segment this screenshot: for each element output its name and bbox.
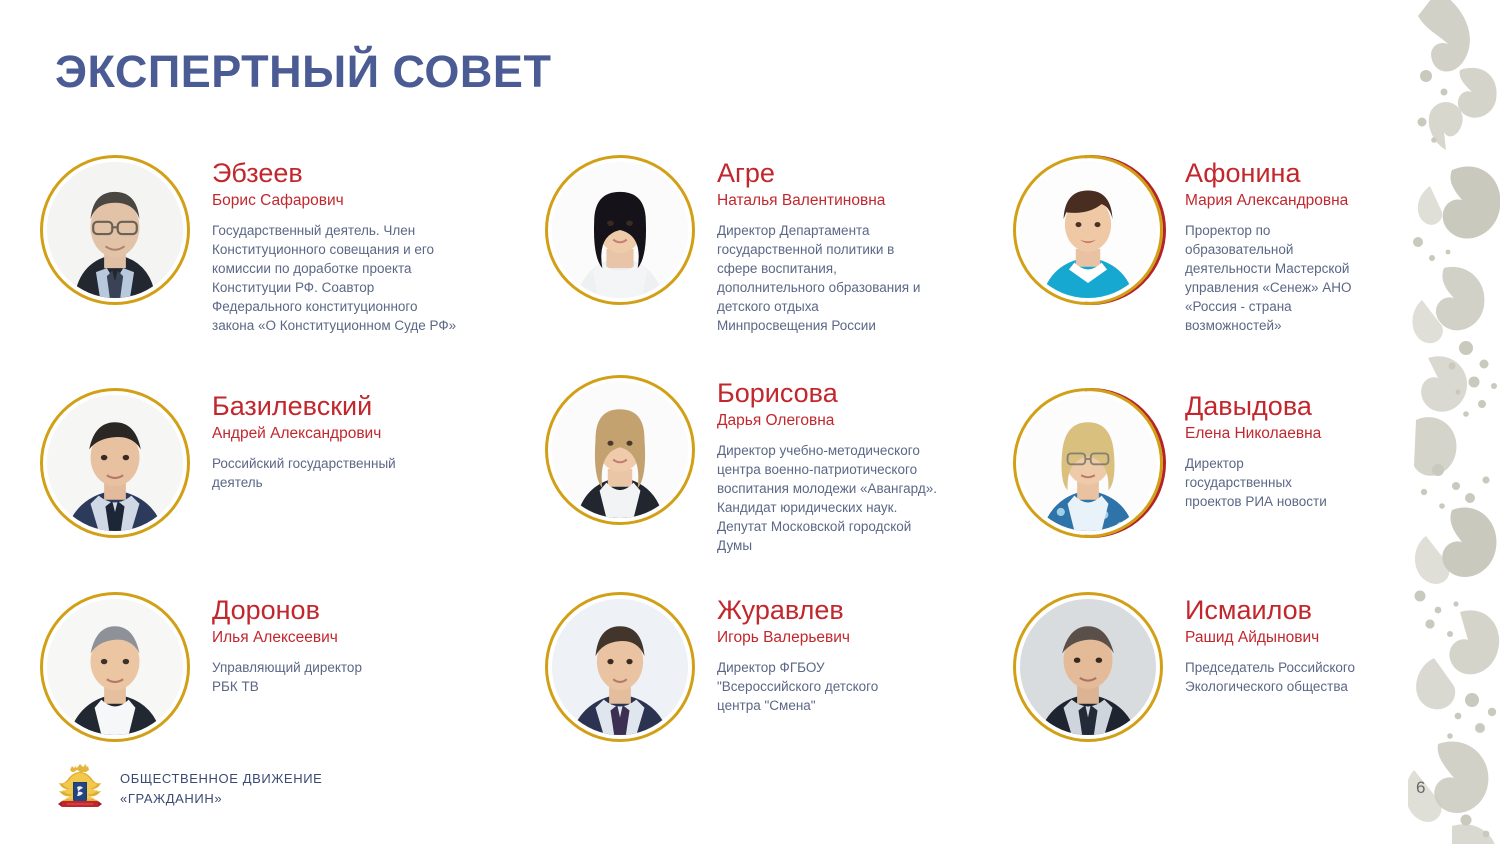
expert-patronymic: Рашид Айдынович [1185, 628, 1355, 649]
expert-info: Доронов Илья Алексеевич Управляющий дире… [190, 592, 362, 696]
expert-info: Исмаилов Рашид Айдынович Председатель Ро… [1163, 592, 1355, 696]
expert-role: Председатель Российского Экологического … [1185, 658, 1355, 696]
expert-patronymic: Андрей Александрович [212, 424, 396, 445]
gold-ring-icon [40, 388, 190, 538]
expert-patronymic: Елена Николаевна [1185, 424, 1327, 445]
avatar [1013, 388, 1163, 538]
expert-patronymic: Игорь Валерьевич [717, 628, 878, 649]
expert-role: Государственный деятель. Член Конституци… [212, 221, 456, 336]
avatar [1013, 592, 1163, 742]
expert-info: Афонина Мария Александровна Проректор по… [1163, 155, 1352, 335]
expert-role: Проректор по образовательной деятельност… [1185, 221, 1352, 336]
expert-role: Директор ФГБОУ "Всероссийского детского … [717, 658, 878, 715]
expert-role: Российский государственный деятель [212, 454, 396, 492]
expert-surname: Журавлев [717, 596, 878, 625]
expert-patronymic: Илья Алексеевич [212, 628, 362, 649]
gold-ring-icon [545, 155, 695, 305]
expert-surname: Афонина [1185, 159, 1352, 188]
expert-role: Управляющий директор РБК ТВ [212, 658, 362, 696]
expert-info: Эбзеев Борис Сафарович Государственный д… [190, 155, 456, 335]
expert-info: Агре Наталья Валентиновна Директор Депар… [695, 155, 920, 335]
expert-surname: Давыдова [1185, 392, 1327, 421]
expert-patronymic: Наталья Валентиновна [717, 191, 920, 212]
expert-role: Директор государственных проектов РИА но… [1185, 454, 1327, 511]
avatar [545, 592, 695, 742]
gold-ring-icon [545, 375, 695, 525]
gold-ring-icon [1013, 155, 1163, 305]
avatar [40, 155, 190, 305]
expert-info: Борисова Дарья Олеговна Директор учебно-… [695, 375, 937, 555]
expert-patronymic: Дарья Олеговна [717, 411, 937, 432]
expert-patronymic: Борис Сафарович [212, 191, 456, 212]
avatar [545, 375, 695, 525]
expert-role: Директор Департамента государственной по… [717, 221, 920, 336]
gold-ring-icon [40, 592, 190, 742]
expert-info: Давыдова Елена Николаевна Директор госуд… [1163, 388, 1327, 511]
expert-card: Давыдова Елена Николаевна Директор госуд… [1013, 388, 1413, 538]
expert-card: Исмаилов Рашид Айдынович Председатель Ро… [1013, 592, 1413, 742]
avatar [1013, 155, 1163, 305]
gold-ring-icon [1013, 592, 1163, 742]
organization-name: ОБЩЕСТВЕННОЕ ДВИЖЕНИЕ «ГРАЖДАНИН» [120, 769, 322, 809]
gold-ring-icon [545, 592, 695, 742]
gold-ring-icon [40, 155, 190, 305]
russian-federation-eagle-emblem-icon [55, 760, 105, 812]
slide-expert-council: ЭКСПЕРТНЫЙ СОВЕТ [0, 0, 1500, 844]
expert-card: Доронов Илья Алексеевич Управляющий дире… [40, 592, 500, 742]
expert-surname: Борисова [717, 379, 937, 408]
expert-grid: Эбзеев Борис Сафарович Государственный д… [0, 0, 1420, 844]
expert-card: Афонина Мария Александровна Проректор по… [1013, 155, 1413, 335]
avatar [40, 592, 190, 742]
expert-card: Базилевский Андрей Александрович Российс… [40, 388, 500, 538]
expert-info: Базилевский Андрей Александрович Российс… [190, 388, 396, 492]
expert-surname: Эбзеев [212, 159, 456, 188]
expert-surname: Доронов [212, 596, 362, 625]
expert-surname: Исмаилов [1185, 596, 1355, 625]
expert-card: Эбзеев Борис Сафарович Государственный д… [40, 155, 500, 335]
gold-ring-icon [1013, 388, 1163, 538]
expert-patronymic: Мария Александровна [1185, 191, 1352, 212]
expert-card: Журавлев Игорь Валерьевич Директор ФГБОУ… [545, 592, 1005, 742]
expert-card: Борисова Дарья Олеговна Директор учебно-… [545, 375, 1005, 555]
expert-card: Агре Наталья Валентиновна Директор Депар… [545, 155, 1005, 335]
avatar [40, 388, 190, 538]
expert-info: Журавлев Игорь Валерьевич Директор ФГБОУ… [695, 592, 878, 715]
expert-surname: Агре [717, 159, 920, 188]
expert-role: Директор учебно-методического центра вое… [717, 441, 937, 556]
avatar [545, 155, 695, 305]
expert-surname: Базилевский [212, 392, 396, 421]
floral-ornament-decoration [1408, 0, 1500, 844]
page-number: 6 [1416, 778, 1425, 798]
